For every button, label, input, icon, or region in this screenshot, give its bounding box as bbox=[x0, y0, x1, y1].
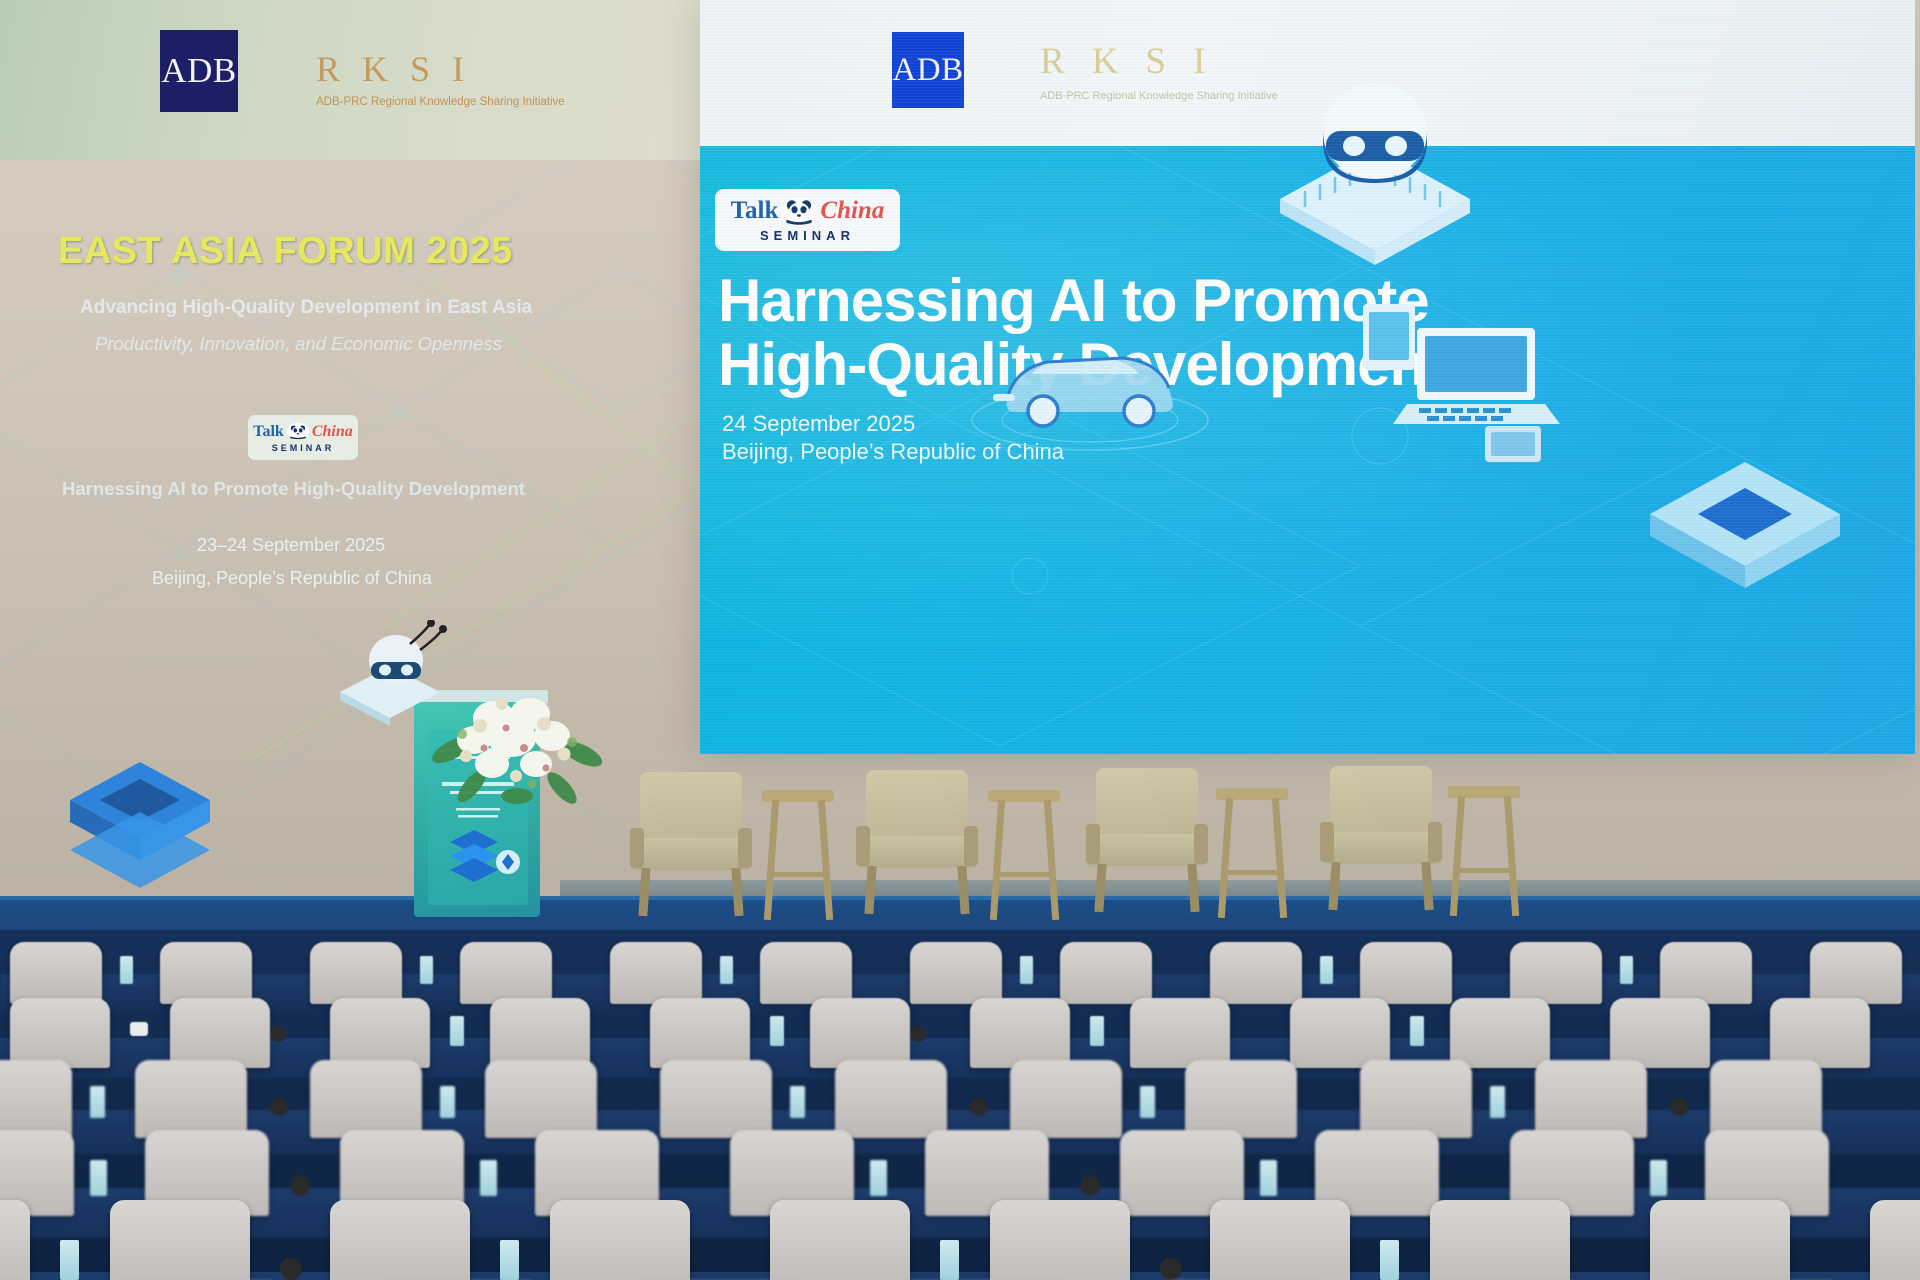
stool-stretcher bbox=[1224, 870, 1282, 875]
screen-talk-china-badge: Talk China SEMINAR bbox=[715, 189, 900, 251]
armchair-arm-left bbox=[630, 828, 644, 868]
armchair-leg bbox=[731, 868, 743, 917]
water-bottle bbox=[870, 1160, 887, 1196]
side-stool bbox=[762, 790, 834, 920]
water-bottle bbox=[60, 1240, 79, 1280]
badge-talk-text: Talk bbox=[253, 423, 284, 441]
audience-chair bbox=[550, 1200, 690, 1280]
water-bottle bbox=[1090, 1016, 1104, 1046]
stool-leg bbox=[1044, 800, 1059, 920]
screen-rksi-tagline: ADB-PRC Regional Knowledge Sharing Initi… bbox=[1040, 90, 1278, 102]
screen-rksi-letter-k: K bbox=[1092, 41, 1146, 82]
water-bottle bbox=[1490, 1086, 1505, 1118]
armchair-arm-right bbox=[964, 826, 978, 866]
armchair-arm-right bbox=[1428, 822, 1442, 862]
badge-main-row: Talk China bbox=[253, 423, 352, 441]
water-bottle bbox=[480, 1160, 497, 1196]
screen-badge-china-text: China bbox=[820, 197, 884, 225]
water-bottle bbox=[450, 1016, 464, 1046]
microphone bbox=[290, 1176, 310, 1196]
water-bottle bbox=[120, 956, 133, 984]
stool-stretcher bbox=[996, 872, 1054, 877]
armchair-seat bbox=[858, 836, 976, 868]
stool-stretcher bbox=[770, 872, 828, 877]
screen-badge-seminar-text: SEMINAR bbox=[760, 228, 855, 243]
water-bottle bbox=[790, 1086, 805, 1118]
audience-seating-area bbox=[0, 930, 1920, 1280]
stool-leg bbox=[1218, 798, 1233, 918]
stool-leg bbox=[1450, 796, 1465, 916]
robot-head-icon bbox=[1260, 79, 1490, 279]
screen-badge-talk-text: Talk bbox=[731, 197, 779, 225]
talk-china-seminar-badge: Talk China SEMINAR bbox=[248, 415, 358, 460]
backdrop-subtitle: Advancing High-Quality Development in Ea… bbox=[80, 297, 532, 319]
cube-block-icon bbox=[1630, 424, 1860, 624]
armchair-leg bbox=[864, 866, 876, 915]
audience-chair bbox=[990, 1200, 1130, 1280]
adb-logo-text: ADB bbox=[161, 51, 236, 91]
rksi-letter-i: I bbox=[452, 49, 486, 89]
armchair-leg bbox=[1421, 862, 1433, 911]
microphone bbox=[280, 1258, 302, 1280]
rksi-logo-letters: RKSI bbox=[316, 48, 546, 90]
microphone bbox=[970, 1098, 988, 1116]
badge-seminar-text: SEMINAR bbox=[272, 443, 335, 453]
backdrop-location: Beijing, People’s Republic of China bbox=[152, 568, 432, 589]
armchair-seat bbox=[1322, 832, 1440, 864]
audience-row bbox=[0, 1200, 1920, 1280]
screen-date: 24 September 2025 bbox=[722, 409, 915, 439]
water-bottle bbox=[770, 1016, 784, 1046]
water-bottle bbox=[90, 1160, 107, 1196]
armchair-leg bbox=[1094, 864, 1106, 913]
backdrop-tagline: Productivity, Innovation, and Economic O… bbox=[95, 333, 502, 355]
audience-chair bbox=[1870, 1200, 1920, 1280]
armchair-arm-left bbox=[1086, 824, 1100, 864]
armchair-arm-right bbox=[1194, 824, 1208, 864]
backdrop-title: EAST ASIA FORUM 2025 bbox=[58, 230, 513, 273]
water-bottle bbox=[500, 1240, 519, 1280]
microphone bbox=[1080, 1176, 1100, 1196]
stool-leg bbox=[818, 800, 833, 920]
armchair-back bbox=[640, 772, 742, 842]
screen-rksi-letters: RKSI bbox=[1040, 40, 1232, 83]
side-stool bbox=[988, 790, 1060, 920]
screen-panda-icon bbox=[781, 198, 817, 225]
screen-adb-logo: ADB bbox=[892, 32, 964, 108]
water-bottle bbox=[1260, 1160, 1277, 1196]
audience-chair bbox=[1430, 1200, 1570, 1280]
water-bottle bbox=[1650, 1160, 1667, 1196]
water-bottle bbox=[720, 956, 733, 984]
armchair-arm-left bbox=[1320, 822, 1334, 862]
armchair-leg bbox=[957, 866, 969, 915]
screen-adb-logo-text: ADB bbox=[892, 52, 963, 89]
stool-leg bbox=[990, 800, 1005, 920]
badge-china-text: China bbox=[312, 423, 353, 441]
water-bottle bbox=[1380, 1240, 1399, 1280]
water-bottle bbox=[1320, 956, 1333, 984]
water-bottle bbox=[1620, 956, 1633, 984]
audience-chair bbox=[770, 1200, 910, 1280]
screen-rksi-letter-i: I bbox=[1193, 41, 1232, 82]
water-bottle bbox=[1410, 1016, 1424, 1046]
panel-armchair bbox=[1086, 768, 1208, 916]
audience-chair bbox=[1650, 1200, 1790, 1280]
adb-logo: ADB bbox=[160, 30, 238, 112]
podium-flower-arrangement bbox=[432, 678, 602, 808]
armchair-arm-left bbox=[856, 826, 870, 866]
side-stool bbox=[1216, 788, 1288, 918]
microphone bbox=[1160, 1258, 1182, 1280]
screen-rksi-letter-s: S bbox=[1145, 41, 1193, 82]
stool-leg bbox=[1272, 798, 1287, 918]
side-stool bbox=[1448, 786, 1520, 916]
panda-icon bbox=[287, 423, 309, 440]
screen-badge-main-row: Talk China bbox=[731, 197, 885, 225]
rksi-letter-k: K bbox=[362, 49, 410, 89]
screen-rksi-letter-r: R bbox=[1040, 41, 1092, 82]
armchair-leg bbox=[1187, 864, 1199, 913]
rksi-letter-s: S bbox=[410, 49, 452, 89]
panel-armchair bbox=[856, 770, 978, 918]
water-bottle bbox=[1020, 956, 1033, 984]
armchair-back bbox=[1096, 768, 1198, 838]
armchair-seat bbox=[632, 838, 750, 870]
water-bottle bbox=[90, 1086, 105, 1118]
electric-car-icon bbox=[955, 312, 1225, 462]
armchair-arm-right bbox=[738, 828, 752, 868]
stool-leg bbox=[1504, 796, 1519, 916]
panel-armchair bbox=[1320, 766, 1442, 914]
water-bottle bbox=[1140, 1086, 1155, 1118]
stool-leg bbox=[764, 800, 779, 920]
panel-armchair bbox=[630, 772, 752, 920]
microphone bbox=[1670, 1098, 1688, 1116]
audience-chair bbox=[330, 1200, 470, 1280]
armchair-leg bbox=[638, 868, 650, 917]
armchair-seat bbox=[1088, 834, 1206, 866]
microphone bbox=[270, 1026, 286, 1042]
water-bottle bbox=[940, 1240, 959, 1280]
rksi-letter-r: R bbox=[316, 49, 362, 89]
audience-chair bbox=[110, 1200, 250, 1280]
armchair-back bbox=[1330, 766, 1432, 836]
armchair-leg bbox=[1328, 862, 1340, 911]
isometric-blocks-decor bbox=[30, 680, 270, 920]
water-bottle bbox=[420, 956, 433, 984]
rksi-tagline: ADB-PRC Regional Knowledge Sharing Initi… bbox=[316, 96, 565, 108]
microphone bbox=[910, 1026, 926, 1042]
conference-hall-photo: ADB RKSI ADB-PRC Regional Knowledge Shar… bbox=[0, 0, 1920, 1280]
water-bottle bbox=[440, 1086, 455, 1118]
armchair-back bbox=[866, 770, 968, 840]
laptop-devices-icon bbox=[1355, 294, 1565, 469]
microphone bbox=[270, 1098, 288, 1116]
stool-stretcher bbox=[1456, 868, 1514, 873]
backdrop-date: 23–24 September 2025 bbox=[197, 535, 385, 556]
backdrop-topic: Harnessing AI to Promote High-Quality De… bbox=[62, 478, 525, 500]
teacup bbox=[130, 1022, 148, 1036]
audience-chair bbox=[1210, 1200, 1350, 1280]
audience-chair bbox=[0, 1200, 30, 1280]
projection-screen: ADB RKSI ADB-PRC Regional Knowledge Shar… bbox=[700, 0, 1915, 754]
